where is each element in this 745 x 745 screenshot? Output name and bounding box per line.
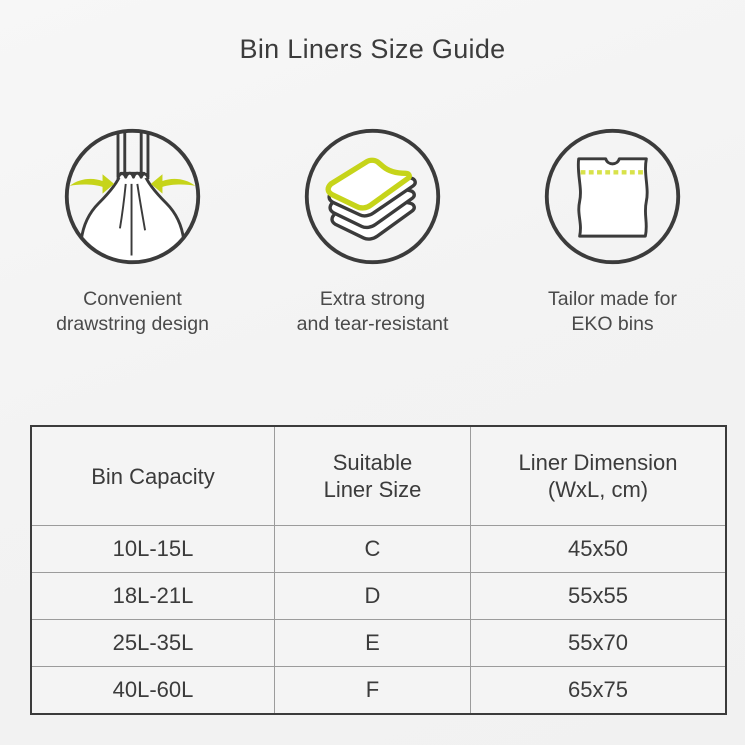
feature-drawstring: Convenient drawstring design [13,124,253,337]
table-row: 18L-21L D 55x55 [31,573,726,620]
bin-liner-size-table: Bin Capacity Suitable Liner Size Liner D… [30,425,727,715]
header-liner-dimension: Liner Dimension (WxL, cm) [471,426,727,526]
table-row: 40L-60L F 65x75 [31,667,726,715]
cell-liner-dimension: 55x55 [471,573,727,620]
cell-bin-capacity: 18L-21L [31,573,275,620]
table-row: 10L-15L C 45x50 [31,526,726,573]
feature-tailored: Tailor made for EKO bins [493,124,733,337]
feature-caption: Convenient drawstring design [56,287,209,337]
feature-caption: Tailor made for EKO bins [548,287,677,337]
size-table-container: Bin Capacity Suitable Liner Size Liner D… [30,425,715,715]
cell-bin-capacity: 25L-35L [31,620,275,667]
size-guide-page: Bin Liners Size Guide [0,0,745,745]
cell-liner-size: D [275,573,471,620]
cell-bin-capacity: 40L-60L [31,667,275,715]
table-header: Bin Capacity Suitable Liner Size Liner D… [31,426,726,526]
feature-caption: Extra strong and tear-resistant [297,287,449,337]
cell-liner-size: C [275,526,471,573]
cell-bin-capacity: 10L-15L [31,526,275,573]
table-header-row: Bin Capacity Suitable Liner Size Liner D… [31,426,726,526]
cell-liner-size: E [275,620,471,667]
cell-liner-dimension: 65x75 [471,667,727,715]
drawstring-bag-icon [60,124,205,269]
tailored-liner-icon [540,124,685,269]
header-bin-capacity: Bin Capacity [31,426,275,526]
stacked-sheets-icon [300,124,445,269]
feature-row: Convenient drawstring design [0,124,745,337]
cell-liner-size: F [275,667,471,715]
page-title: Bin Liners Size Guide [0,34,745,65]
table-row: 25L-35L E 55x70 [31,620,726,667]
cell-liner-dimension: 55x70 [471,620,727,667]
table-body: 10L-15L C 45x50 18L-21L D 55x55 25L-35L … [31,526,726,715]
feature-strength: Extra strong and tear-resistant [253,124,493,337]
cell-liner-dimension: 45x50 [471,526,727,573]
header-liner-size: Suitable Liner Size [275,426,471,526]
